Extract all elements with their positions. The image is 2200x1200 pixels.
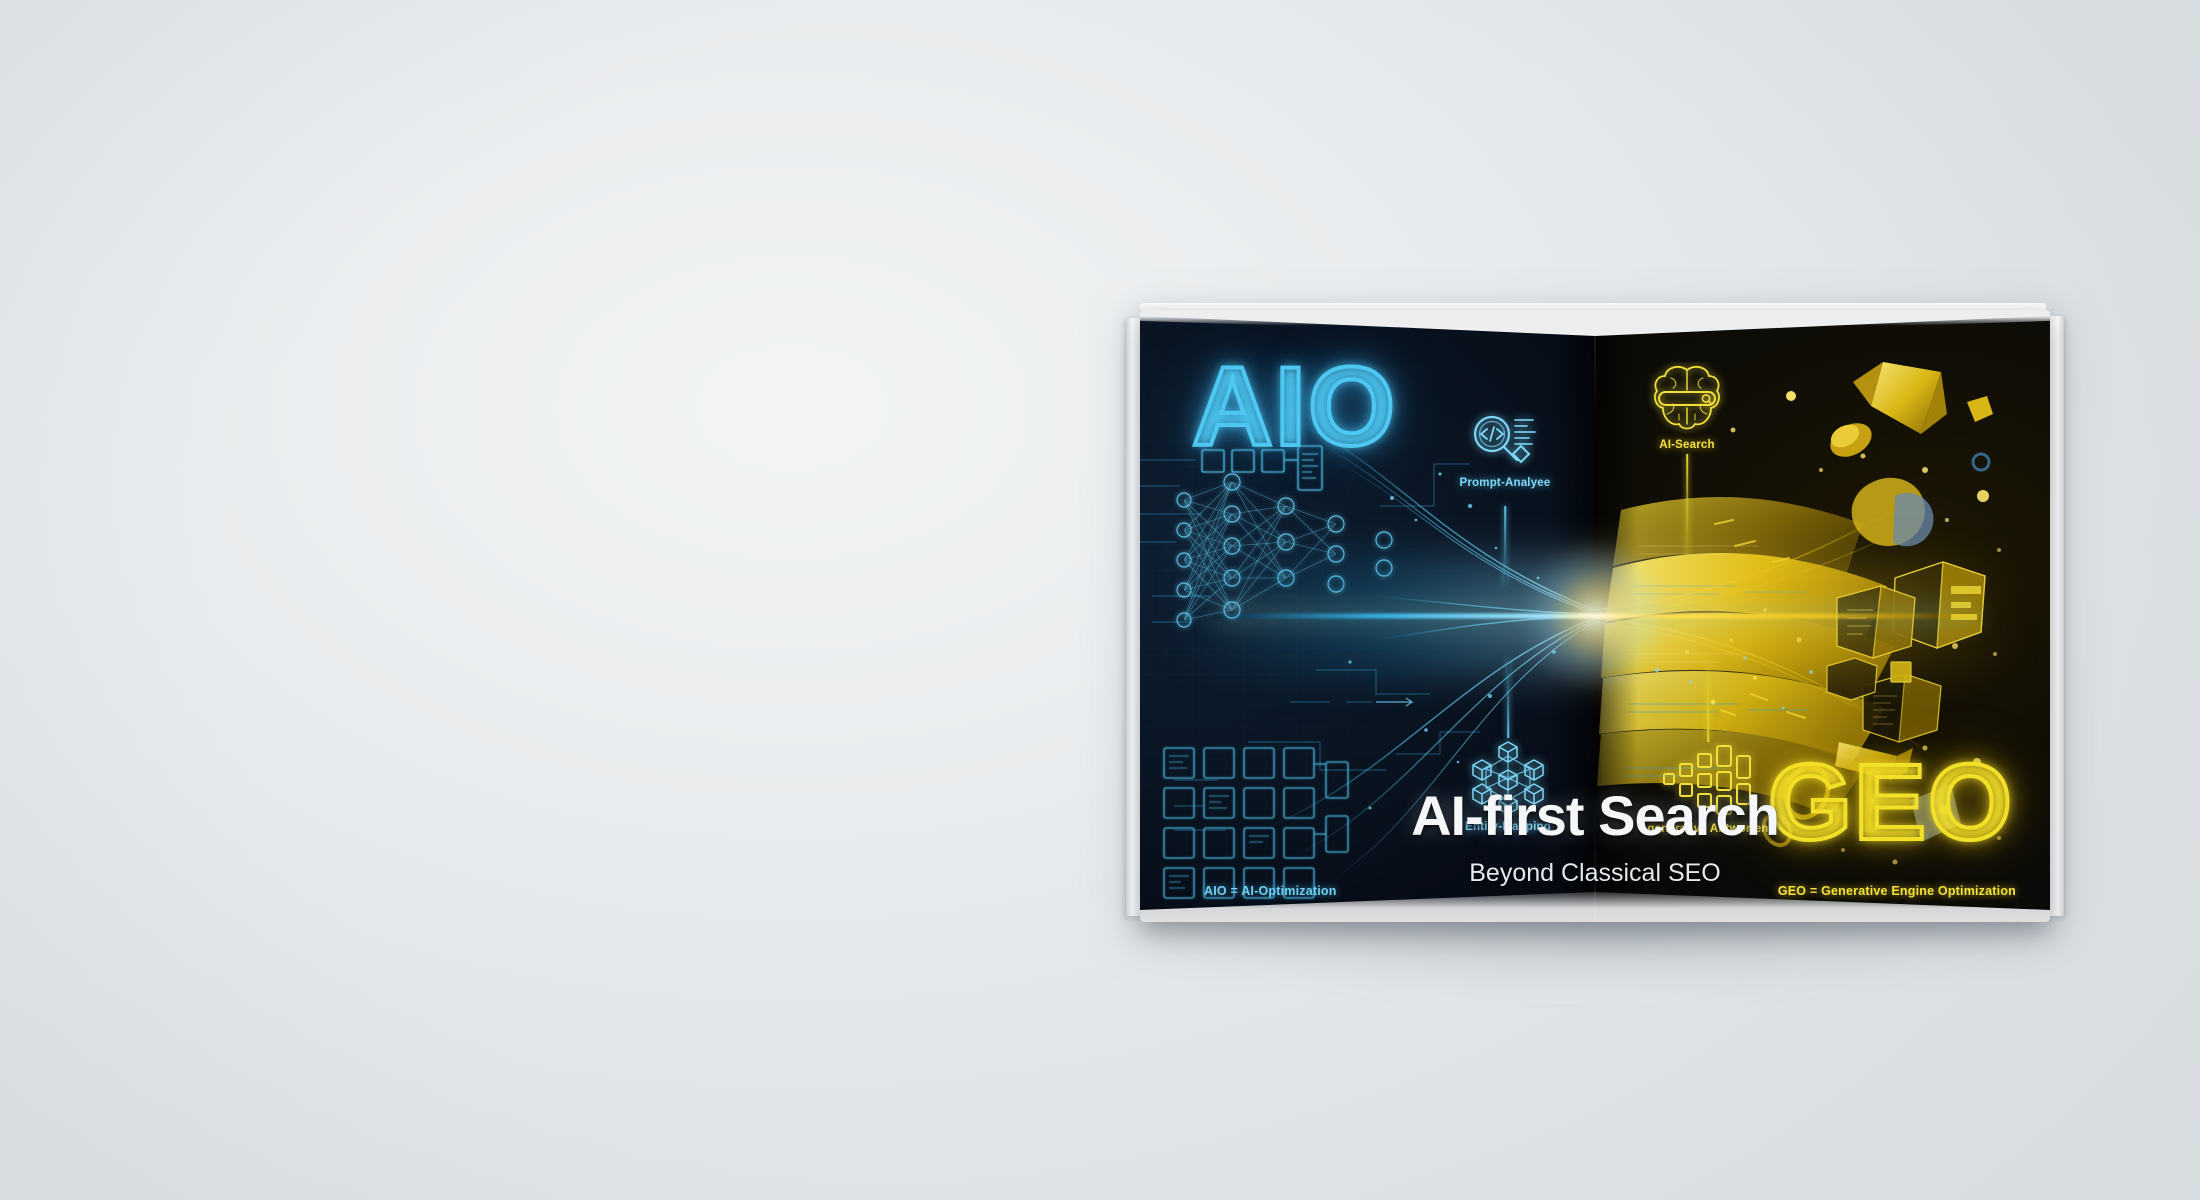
feature-connector-line: [1504, 506, 1506, 584]
footnote-geo: GEO = Generative Engine Optimization: [1778, 884, 2016, 898]
magazine-spread: AIO GEO Prompt-Analyee: [1140, 310, 2050, 922]
feature-label: AI-Search: [1627, 439, 1747, 451]
feature-connector-line: [1707, 656, 1709, 742]
feature-connector-line: [1686, 454, 1688, 572]
feature-connector-line: [1507, 660, 1509, 738]
neon-wordmark-aio: AIO: [1192, 342, 1397, 471]
magnifier-code-icon: [1467, 410, 1543, 472]
center-core-flare: [1520, 541, 1670, 691]
feature-ai-search: AI-Search: [1627, 362, 1747, 451]
brain-search-icon: [1645, 362, 1729, 434]
magazine-spread-surface: AIO GEO Prompt-Analyee: [1140, 310, 2050, 922]
neon-wordmark-geo: GEO: [1768, 739, 2014, 864]
cover-title: AI-first Search: [1411, 783, 1779, 848]
footnote-aio: AIO = AI-Optimization: [1204, 884, 1337, 898]
feature-label: Prompt-Analyee: [1440, 477, 1570, 489]
cover-subtitle: Beyond Classical SEO: [1469, 859, 1721, 888]
feature-prompt-analyse: Prompt-Analyee: [1440, 410, 1570, 489]
